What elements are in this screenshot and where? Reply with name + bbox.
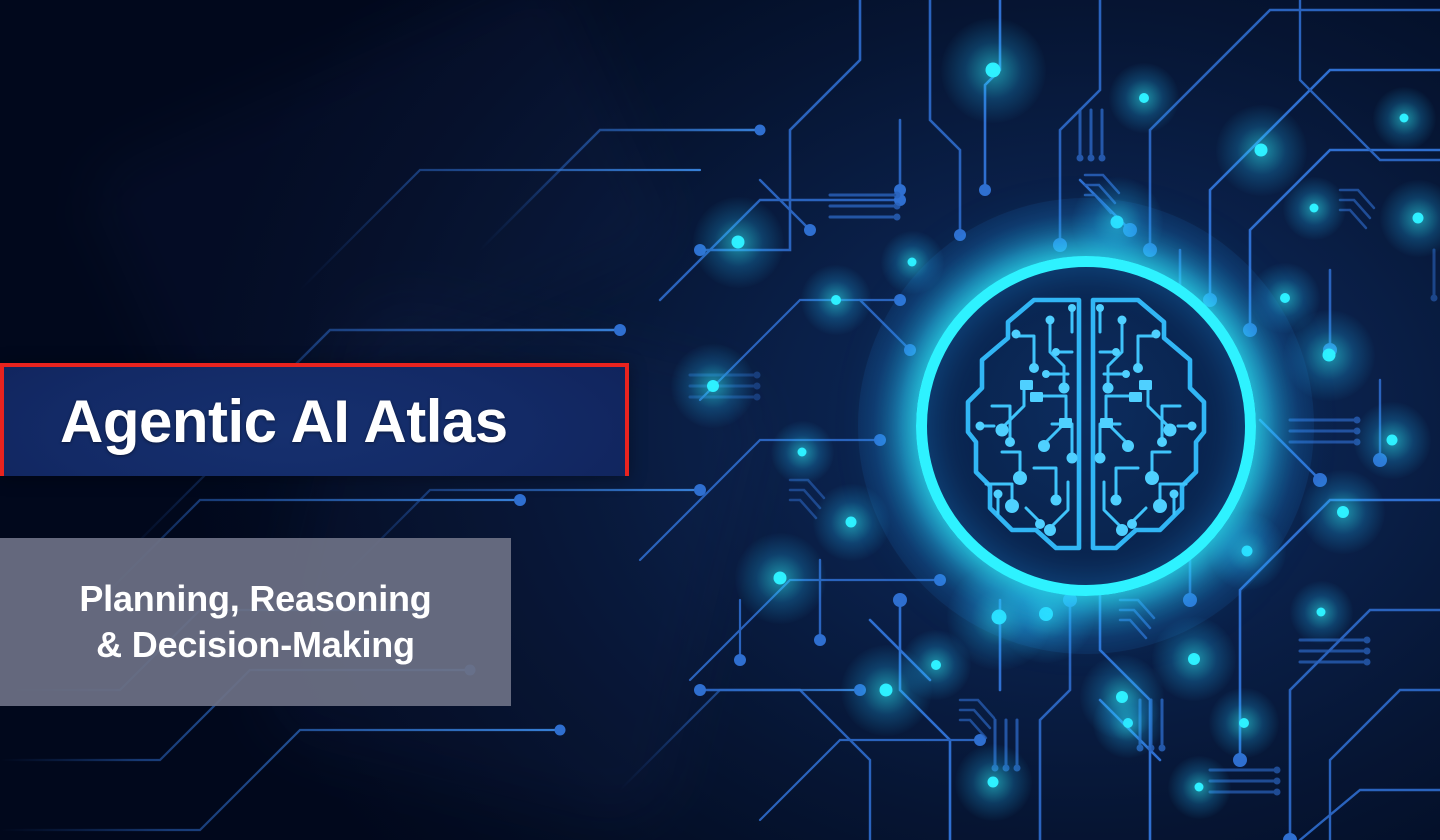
- hero-banner: Agentic AI Atlas Planning, Reasoning & D…: [0, 0, 1440, 840]
- subtitle-box: Planning, Reasoning & Decision-Making: [0, 538, 511, 706]
- title-banner: Agentic AI Atlas: [0, 363, 629, 476]
- page-title: Agentic AI Atlas: [4, 392, 508, 452]
- subtitle-line-2: & Decision-Making: [96, 625, 415, 665]
- circuit-brain-icon: [916, 256, 1256, 596]
- brain-circuit-illustration: [916, 256, 1256, 596]
- subtitle-line-1: Planning, Reasoning: [79, 579, 431, 619]
